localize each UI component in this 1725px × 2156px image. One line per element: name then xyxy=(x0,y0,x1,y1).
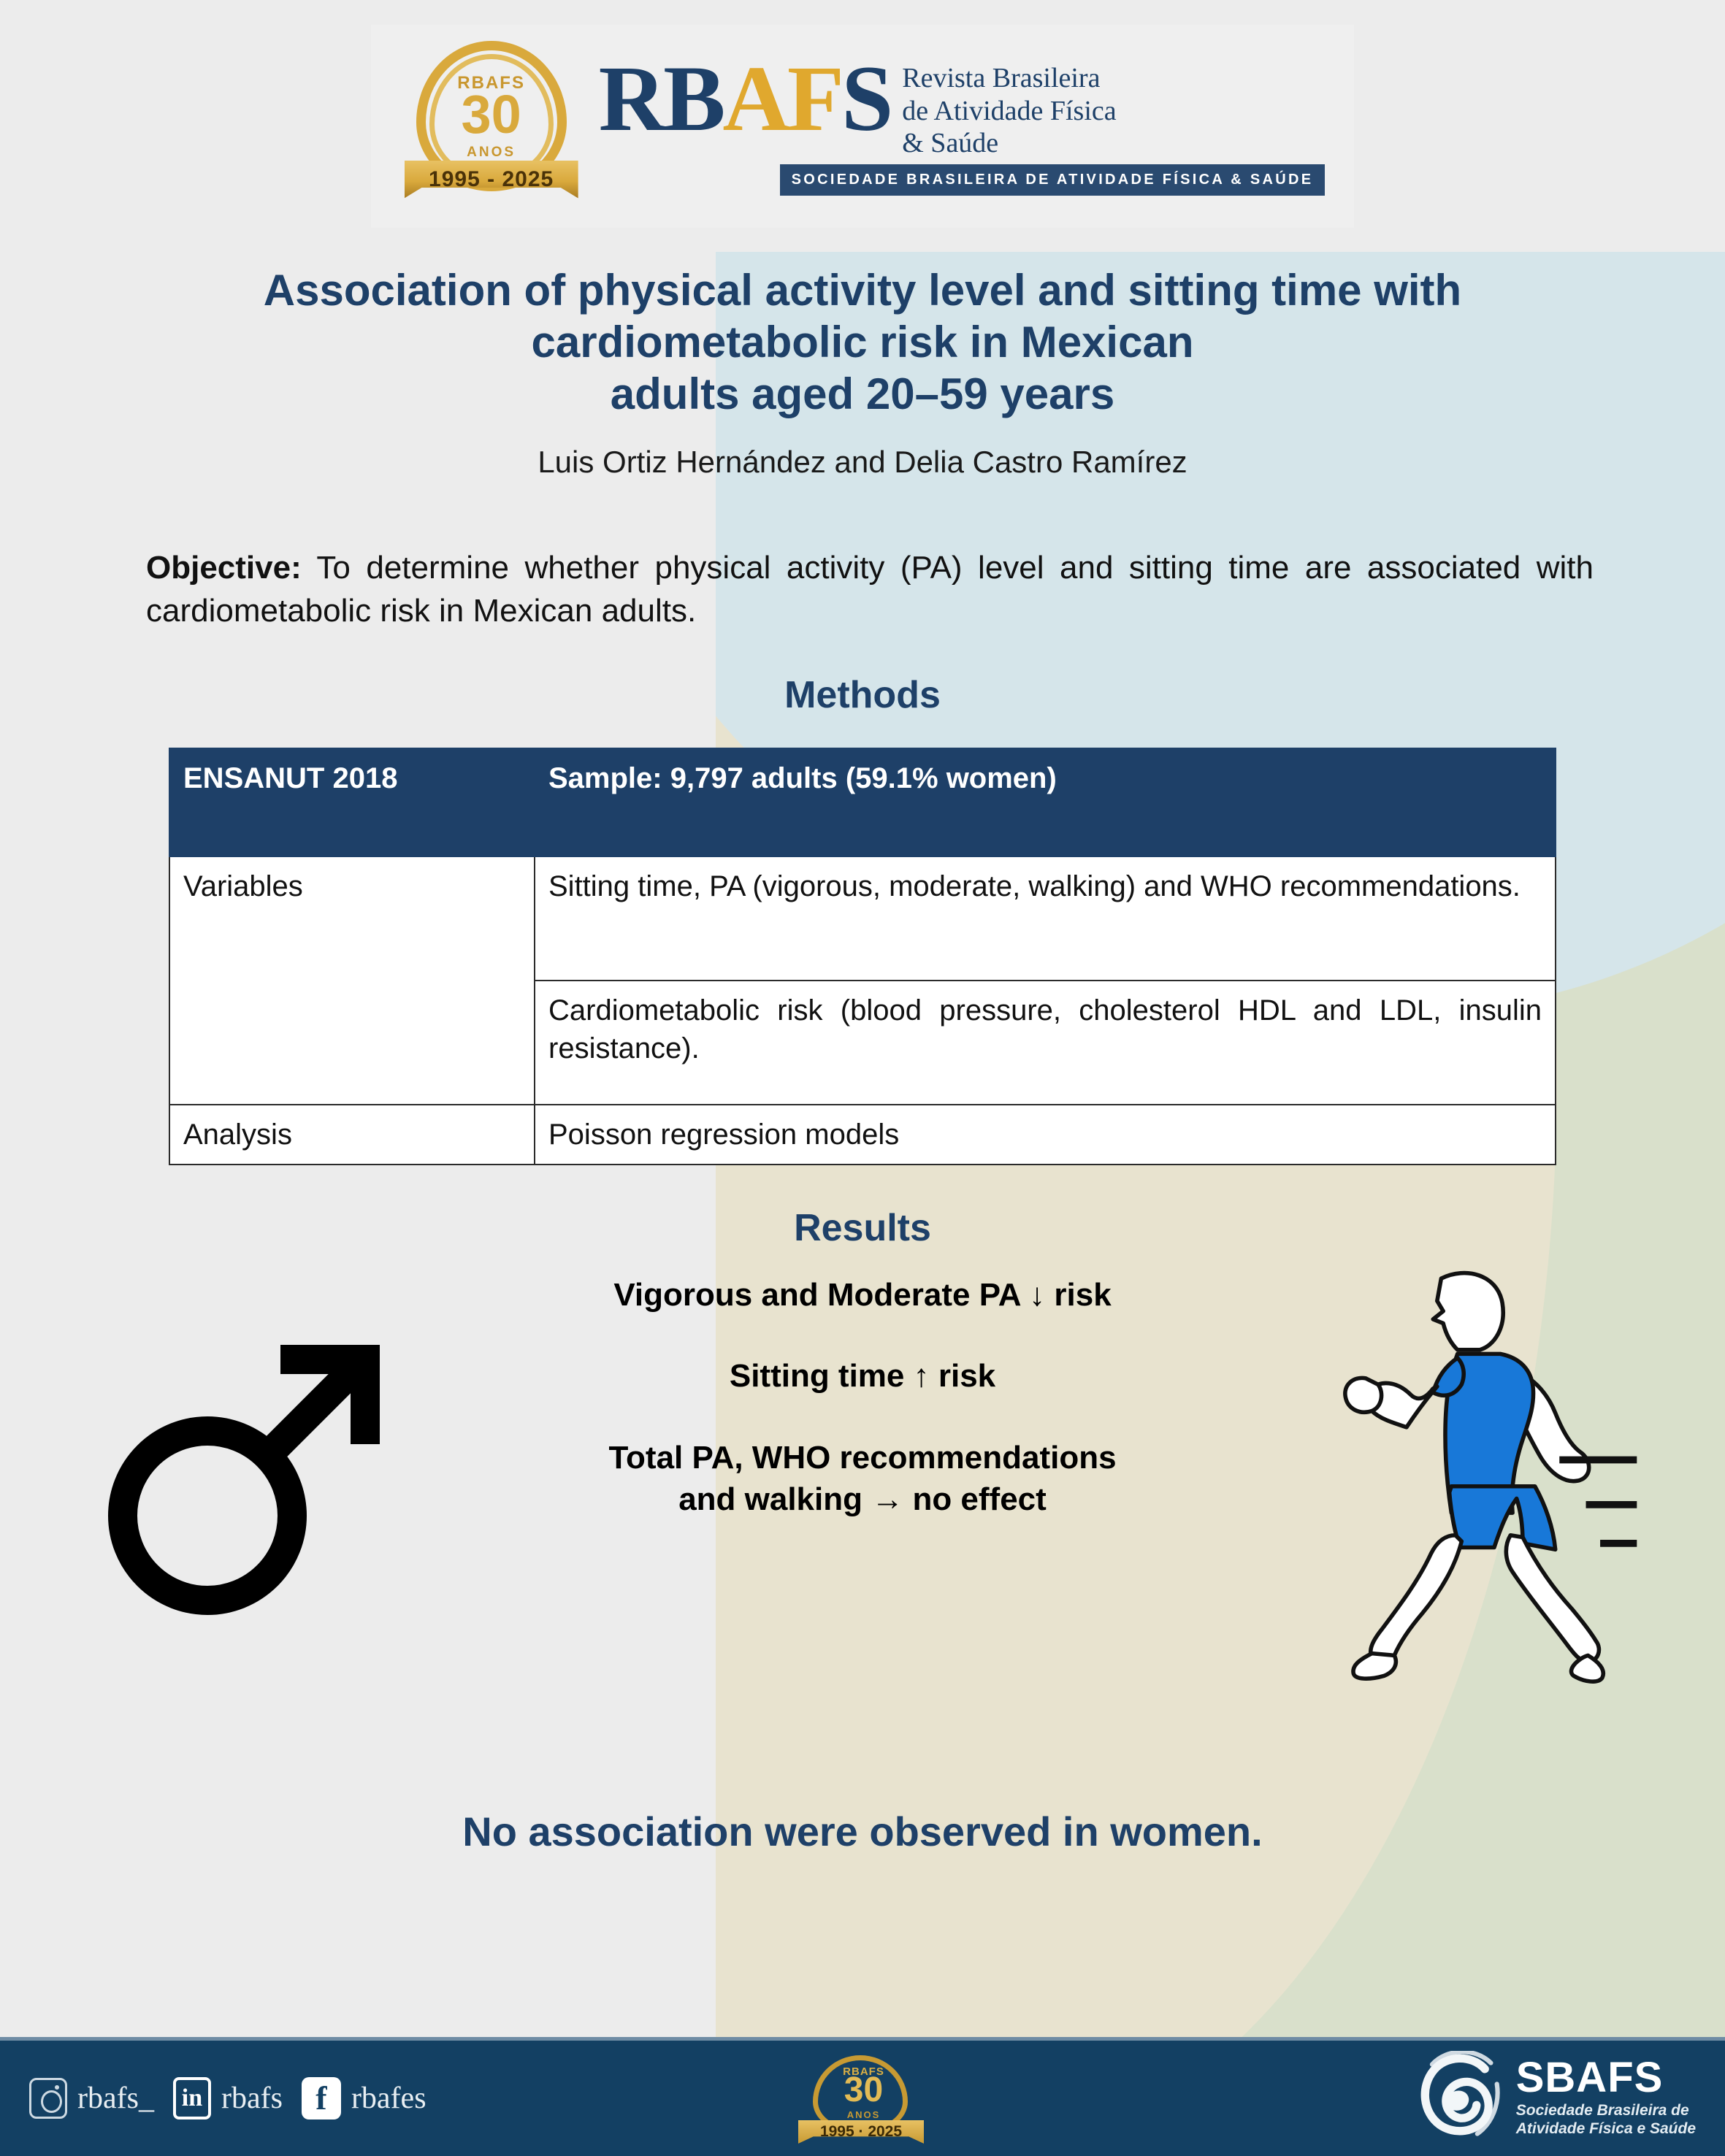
runner-rear-leg xyxy=(1506,1535,1599,1662)
badge-unit: ANOS xyxy=(400,145,583,161)
runner-icon xyxy=(1331,1260,1637,1698)
wordmark-top-row: RBAFS Revista Brasileira de Atividade Fí… xyxy=(599,56,1326,160)
results-area: Vigorous and Moderate PA ↓ risk Sitting … xyxy=(110,1275,1615,1742)
rbafs-letters-rb: RB xyxy=(599,47,723,150)
subtitle-line-1: Revista Brasileira xyxy=(902,62,1116,95)
sbafs-tagline-line-2: Atividade Física e Saúde xyxy=(1516,2120,1696,2138)
badge-number: 30 xyxy=(400,88,583,142)
table-cell-value: Cardiometabolic risk (blood pressure, ch… xyxy=(535,981,1556,1105)
table-cell-value: Sitting time, PA (vigorous, moderate, wa… xyxy=(535,856,1556,981)
methods-table: ENSANUT 2018 Sample: 9,797 adults (59.1%… xyxy=(169,748,1556,1165)
subtitle-line-2: de Atividade Física xyxy=(902,95,1116,128)
runner-head xyxy=(1433,1273,1503,1350)
rbafs-wordmark: RBAFS Revista Brasileira de Atividade Fí… xyxy=(599,56,1326,196)
social-facebook[interactable]: f rbafes xyxy=(302,2077,427,2119)
social-linkedin[interactable]: in rbafs xyxy=(173,2077,283,2119)
sbafs-logo: SBAFS Sociedade Brasileira de Atividade … xyxy=(1412,2051,1696,2144)
table-row: ENSANUT 2018 Sample: 9,797 adults (59.1%… xyxy=(169,748,1556,856)
methods-heading: Methods xyxy=(110,673,1615,717)
title-line-3: adults aged 20–59 years xyxy=(131,369,1594,421)
facebook-handle: rbafes xyxy=(351,2081,427,2116)
facebook-icon: f xyxy=(302,2077,341,2119)
rbafs-letter-s: S xyxy=(841,47,890,150)
runner-front-leg xyxy=(1371,1535,1462,1663)
social-links: rbafs_ in rbafs f rbafes xyxy=(0,2077,427,2119)
page-title: Association of physical activity level a… xyxy=(110,265,1615,420)
runner-front-foot xyxy=(1353,1654,1396,1679)
male-symbol-icon xyxy=(102,1319,394,1625)
instagram-icon xyxy=(29,2078,67,2119)
runner-shorts xyxy=(1450,1486,1556,1550)
rbafs-letters-af: AF xyxy=(722,47,841,150)
table-row: Analysis Poisson regression models xyxy=(169,1105,1556,1165)
anniversary-badge-icon: RBAFS 30 ANOS 1995 - 2025 xyxy=(400,35,583,218)
footer-bar: rbafs_ in rbafs f rbafes RBAFS 30 ANOS 1… xyxy=(0,2037,1725,2156)
conclusion-statement: No association were observed in women. xyxy=(110,1808,1615,1855)
rbafs-lettermark: RBAFS xyxy=(599,56,891,142)
social-instagram[interactable]: rbafs_ xyxy=(29,2078,154,2119)
authors-line: Luis Ortiz Hernández and Delia Castro Ra… xyxy=(110,445,1615,480)
objective-label: Objective: xyxy=(146,550,302,586)
results-heading: Results xyxy=(110,1206,1615,1250)
runner-sleeve xyxy=(1433,1358,1464,1395)
subtitle-line-3: & Saúde xyxy=(902,127,1116,160)
title-line-1: Association of physical activity level a… xyxy=(131,265,1594,317)
sbafs-spiral-icon xyxy=(1412,2051,1503,2144)
table-cell-label: Analysis xyxy=(169,1105,535,1165)
footer-anniversary-badge-icon: RBAFS 30 ANOS 1995 · 2025 xyxy=(785,2051,942,2153)
sbafs-tagline-line-1: Sociedade Brasileira de xyxy=(1516,2102,1696,2120)
poster-content: Association of physical activity level a… xyxy=(0,265,1725,1855)
header-logo-band: RBAFS 30 ANOS 1995 - 2025 RBAFS Revista … xyxy=(0,0,1725,252)
linkedin-handle: rbafs xyxy=(221,2081,283,2116)
sbafs-text: SBAFS Sociedade Brasileira de Atividade … xyxy=(1516,2057,1696,2138)
objective-text: To determine whether physical activity (… xyxy=(146,550,1594,629)
society-bar: SOCIEDADE BRASILEIRA DE ATIVIDADE FÍSICA… xyxy=(780,164,1326,196)
table-row: Variables Sitting time, PA (vigorous, mo… xyxy=(169,856,1556,981)
title-line-2: cardiometabolic risk in Mexican xyxy=(131,317,1594,369)
footer-badge-number: 30 xyxy=(785,2073,942,2108)
runner-rear-foot xyxy=(1571,1656,1603,1682)
sbafs-name: SBAFS xyxy=(1516,2057,1696,2099)
sbafs-tagline: Sociedade Brasileira de Atividade Física… xyxy=(1516,2102,1696,2138)
footer-badge-unit: ANOS xyxy=(785,2109,942,2120)
linkedin-icon: in xyxy=(173,2077,211,2119)
runner-fist xyxy=(1345,1378,1382,1413)
rbafs-subtitle: Revista Brasileira de Atividade Física &… xyxy=(902,56,1116,160)
instagram-handle: rbafs_ xyxy=(77,2081,154,2116)
table-cell-value: Sample: 9,797 adults (59.1% women) xyxy=(535,748,1556,856)
badge-years-ribbon: 1995 - 2025 xyxy=(405,161,578,199)
rbafs-logo: RBAFS 30 ANOS 1995 - 2025 RBAFS Revista … xyxy=(371,25,1355,228)
table-cell-label: ENSANUT 2018 xyxy=(169,748,535,856)
table-cell-value: Poisson regression models xyxy=(535,1105,1556,1165)
objective-paragraph: Objective: To determine whether physical… xyxy=(110,547,1615,632)
table-cell-label: Variables xyxy=(169,856,535,1105)
footer-badge-years: 1995 · 2025 xyxy=(798,2120,924,2144)
